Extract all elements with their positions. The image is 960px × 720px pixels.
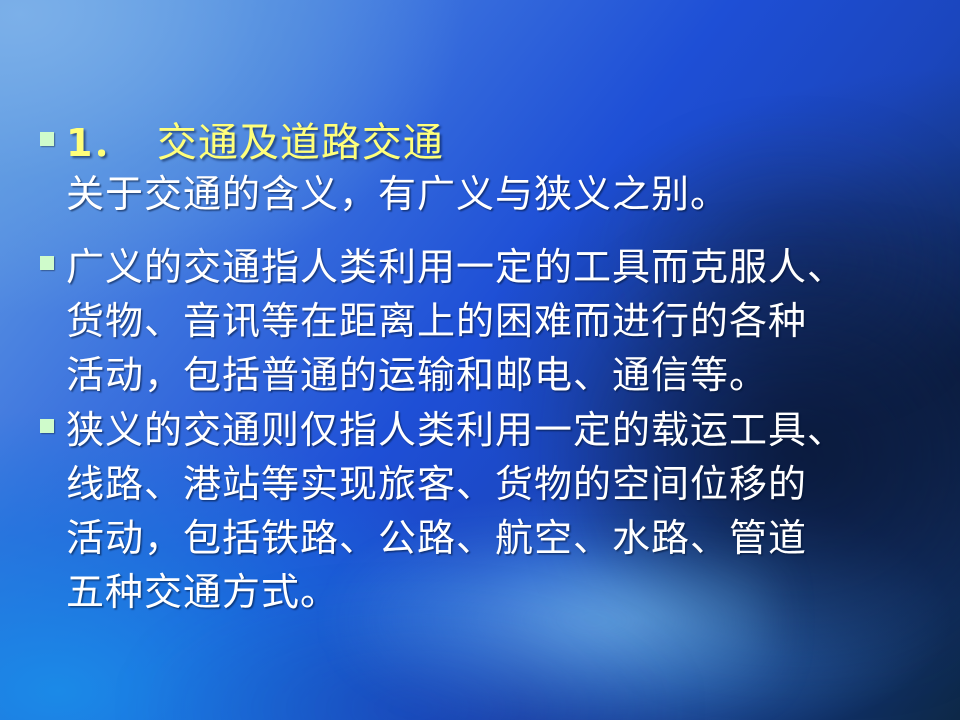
square-bullet-icon — [40, 132, 54, 146]
slide-title-line: 1． 交通及道路交通 — [66, 118, 930, 168]
bullet-item-2-line-1: 广义的交通指人类利用一定的工具而克服人、 — [66, 240, 940, 294]
bullet-item-2-body: 广义的交通指人类利用一定的工具而克服人、 货物、音讯等在距离上的困难而进行的各种… — [66, 240, 940, 402]
bullet-item-3-line-3: 活动，包括铁路、公路、航空、水路、管道 — [66, 511, 940, 565]
bullet-item-3: 狭义的交通则仅指人类利用一定的载运工具、 线路、港站等实现旅客、货物的空间位移的… — [40, 403, 940, 619]
bullet-item-3-line-4: 五种交通方式。 — [66, 565, 940, 619]
slide-title-text: 交通及道路交通 — [157, 120, 444, 166]
presentation-slide: 1． 交通及道路交通 关于交通的含义，有广义与狭义之别。 广义的交通指人类利用一… — [0, 0, 960, 720]
slide-content: 1． 交通及道路交通 关于交通的含义，有广义与狭义之别。 广义的交通指人类利用一… — [0, 0, 960, 720]
bullet-item-2-line-3: 活动，包括普通的运输和邮电、通信等。 — [66, 348, 940, 402]
bullet-item-3-line-2: 线路、港站等实现旅客、货物的空间位移的 — [66, 457, 940, 511]
bullet-item-1: 1． 交通及道路交通 关于交通的含义，有广义与狭义之别。 — [40, 118, 930, 220]
square-bullet-icon — [40, 419, 54, 433]
square-bullet-icon — [40, 256, 54, 270]
bullet-item-2-line-2: 货物、音讯等在距离上的困难而进行的各种 — [66, 294, 940, 348]
bullet-item-1-body: 1． 交通及道路交通 关于交通的含义，有广义与狭义之别。 — [66, 118, 930, 220]
bullet-item-3-body: 狭义的交通则仅指人类利用一定的载运工具、 线路、港站等实现旅客、货物的空间位移的… — [66, 403, 940, 619]
title-spacer — [130, 120, 156, 166]
title-number: 1． — [66, 121, 130, 165]
bullet-item-2: 广义的交通指人类利用一定的工具而克服人、 货物、音讯等在距离上的困难而进行的各种… — [40, 240, 940, 402]
bullet-item-1-line-1: 关于交通的含义，有广义与狭义之别。 — [66, 168, 930, 220]
bullet-item-3-line-1: 狭义的交通则仅指人类利用一定的载运工具、 — [66, 403, 940, 457]
